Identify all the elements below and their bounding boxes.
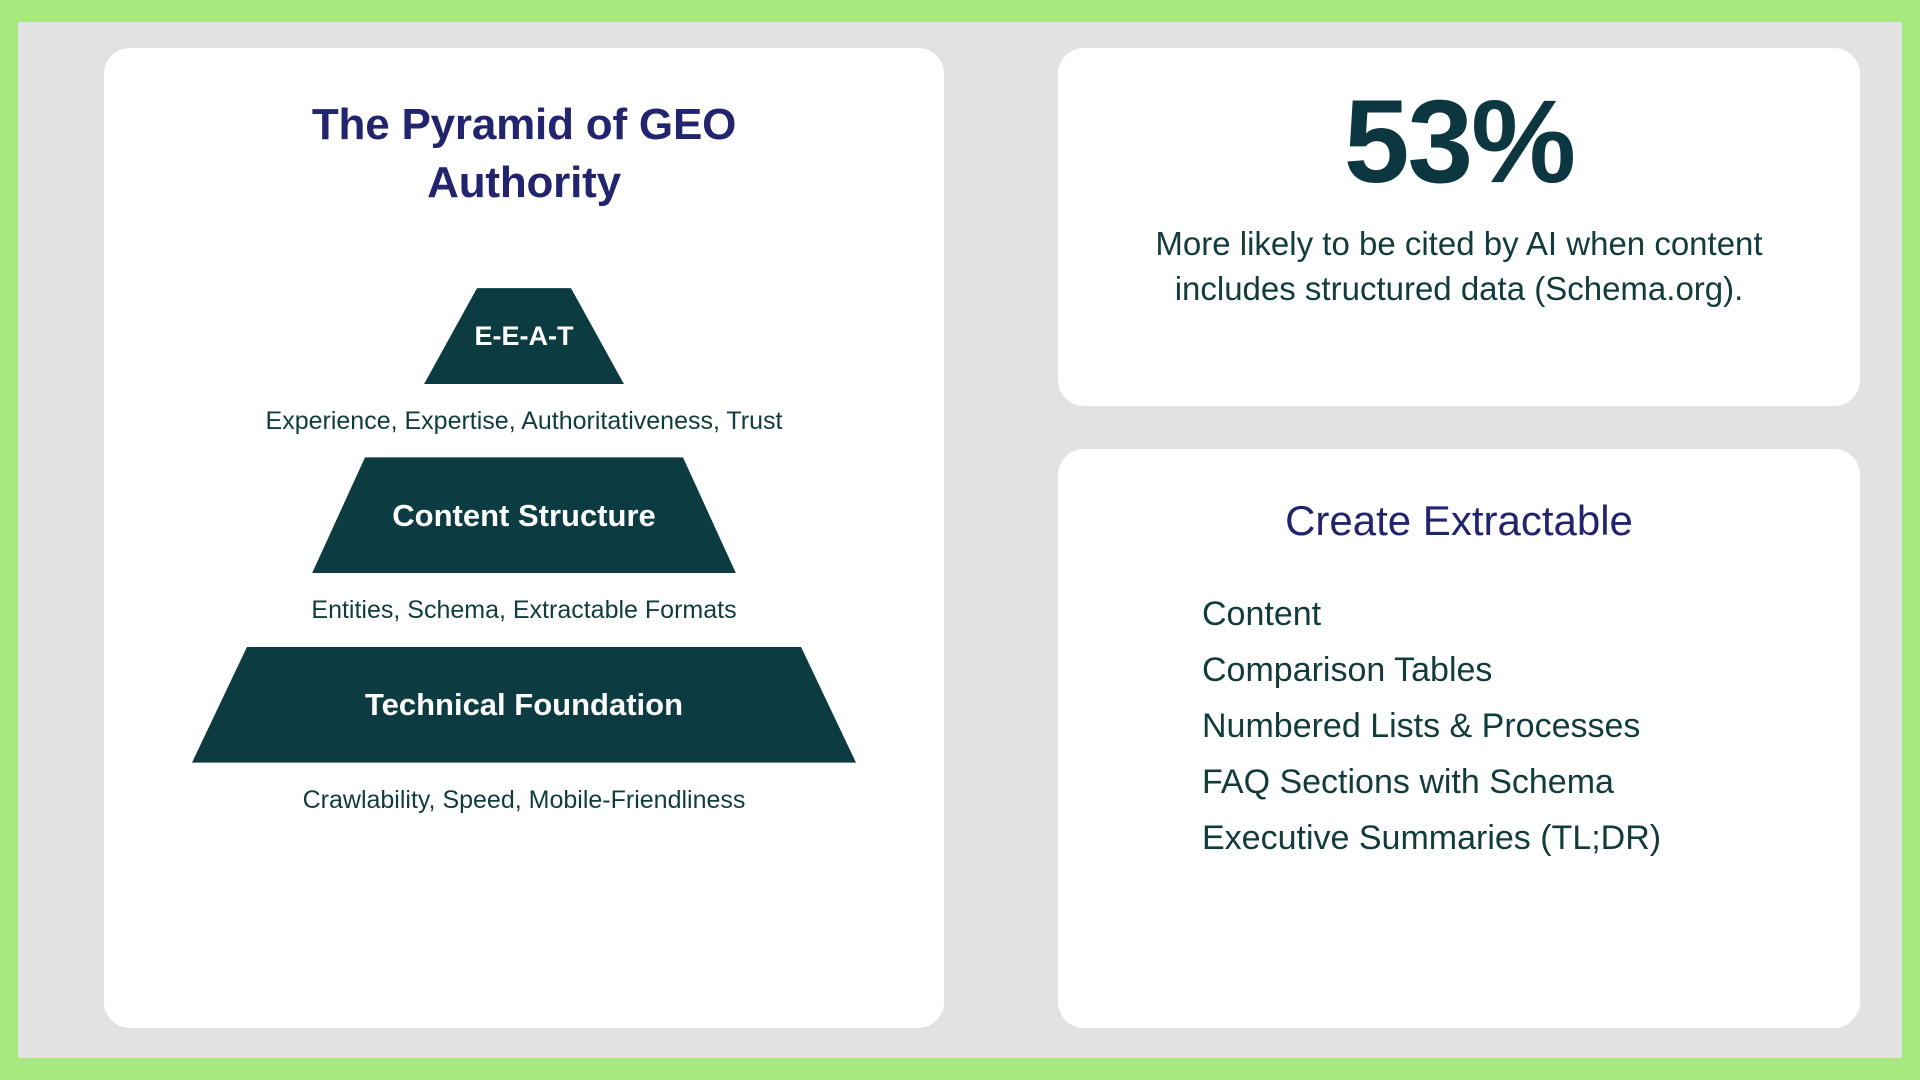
pyramid-tier-1-label: E-E-A-T	[475, 323, 574, 350]
list-item: Executive Summaries (TL;DR)	[1202, 818, 1820, 858]
infographic-stage: The Pyramid of GEO Authority E-E-A-T Exp…	[18, 22, 1902, 1058]
list-item: FAQ Sections with Schema	[1202, 762, 1820, 802]
pyramid-card-title: The Pyramid of GEO Authority	[244, 96, 804, 212]
pyramid-tier-3-caption: Crawlability, Speed, Mobile-Friendliness	[303, 785, 746, 816]
green-border-frame: The Pyramid of GEO Authority E-E-A-T Exp…	[0, 0, 1920, 1080]
pyramid-tier-1-caption: Experience, Expertise, Authoritativeness…	[266, 406, 783, 437]
extractable-content-card: Create Extractable Content Comparison Ta…	[1058, 449, 1860, 1028]
statistic-card: 53% More likely to be cited by AI when c…	[1058, 48, 1860, 406]
pyramid-tier-2-caption: Entities, Schema, Extractable Formats	[311, 595, 736, 626]
extractable-content-list: Content Comparison Tables Numbered Lists…	[1098, 594, 1820, 859]
list-item: Content	[1202, 594, 1820, 634]
pyramid-tier-2-label: Content Structure	[392, 500, 656, 531]
pyramid-card: The Pyramid of GEO Authority E-E-A-T Exp…	[104, 48, 944, 1028]
pyramid-tier-3-shape: Technical Foundation	[192, 647, 856, 763]
geo-authority-pyramid: E-E-A-T Experience, Expertise, Authorita…	[144, 288, 904, 816]
pyramid-tier-3: Technical Foundation Crawlability, Speed…	[144, 647, 904, 816]
statistic-caption: More likely to be cited by AI when conte…	[1139, 222, 1779, 310]
list-item: Comparison Tables	[1202, 650, 1820, 690]
pyramid-tier-1: E-E-A-T Experience, Expertise, Authorita…	[144, 288, 904, 437]
extractable-card-heading: Create Extractable	[1285, 495, 1633, 548]
pyramid-tier-2-shape: Content Structure	[312, 457, 736, 573]
pyramid-tier-3-label: Technical Foundation	[365, 689, 683, 720]
pyramid-tier-2: Content Structure Entities, Schema, Extr…	[144, 457, 904, 626]
pyramid-tier-1-shape: E-E-A-T	[424, 288, 624, 384]
right-column: 53% More likely to be cited by AI when c…	[1058, 48, 1860, 1028]
statistic-value: 53%	[1344, 82, 1574, 202]
list-item: Numbered Lists & Processes	[1202, 706, 1820, 746]
